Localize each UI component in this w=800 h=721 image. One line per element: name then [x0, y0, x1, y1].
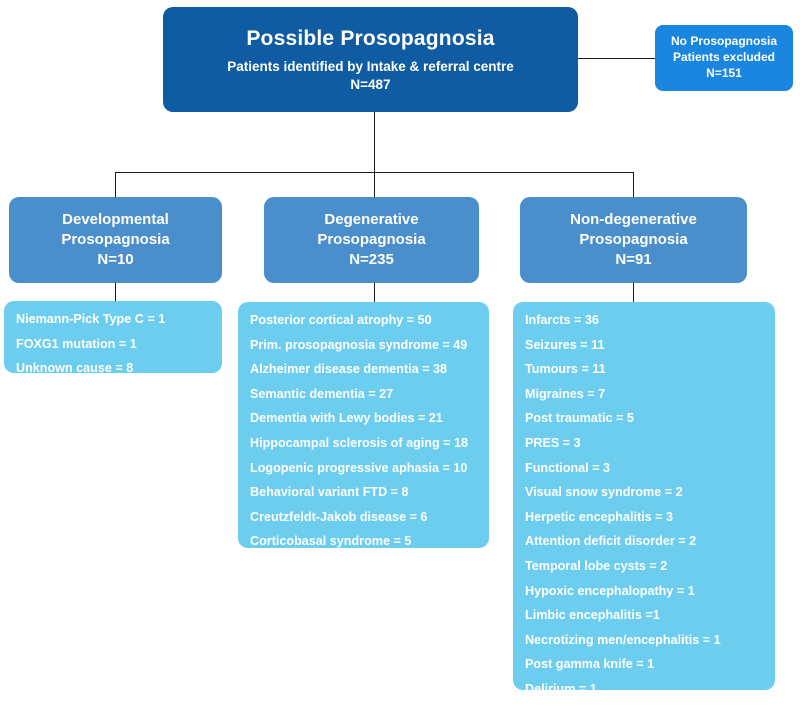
- list-item: Corticobasal syndrome = 5: [250, 535, 479, 548]
- root-title: Possible Prosopagnosia: [246, 26, 494, 52]
- list-item: Migraines = 7: [525, 388, 765, 401]
- list-item: Seizures = 11: [525, 339, 765, 352]
- root-subtitle: Patients identified by Intake & referral…: [227, 58, 514, 76]
- list-item: Infarcts = 36: [525, 314, 765, 327]
- flowchart-canvas: Possible Prosopagnosia Patients identifi…: [0, 0, 800, 703]
- connector-drop-degenerative: [374, 172, 375, 198]
- category-2-name-line-1: Non-degenerative: [570, 210, 697, 230]
- list-item: Uncertain = 1: [525, 708, 765, 721]
- list-item: Post gamma knife = 1: [525, 658, 765, 671]
- category-1-name-line-2: Prosopagnosia: [317, 230, 425, 250]
- category-1-name-line-1: Degenerative: [324, 210, 418, 230]
- category-list-non-degenerative: Infarcts = 36Seizures = 11Tumours = 11Mi…: [513, 302, 775, 690]
- list-item: Tumours = 11: [525, 363, 765, 376]
- connector-developmental-to-list: [115, 283, 116, 303]
- list-item: Alzheimer disease dementia = 38: [250, 363, 479, 376]
- category-list-degenerative: Posterior cortical atrophy = 50Prim. pro…: [238, 302, 489, 548]
- connector-drop-developmental: [115, 172, 116, 198]
- list-item: FOXG1 mutation = 1: [16, 338, 212, 351]
- connector-root-to-excluded: [578, 58, 656, 59]
- list-item: Posterior cortical atrophy = 50: [250, 314, 479, 327]
- list-item: Limbic encephalitis =1: [525, 609, 765, 622]
- list-item: Herpetic encephalitis = 3: [525, 511, 765, 524]
- list-item: Attention deficit disorder = 2: [525, 535, 765, 548]
- category-header-degenerative: Degenerative Prosopagnosia N=235: [264, 197, 479, 283]
- list-item: Hypoxic encephalopathy = 1: [525, 585, 765, 598]
- list-item: Creutzfeldt-Jakob disease = 6: [250, 511, 479, 524]
- category-2-count: N=91: [615, 250, 651, 270]
- connector-drop-nondegenerative: [633, 172, 634, 198]
- category-header-developmental: Developmental Prosopagnosia N=10: [9, 197, 222, 283]
- category-list-developmental: Niemann-Pick Type C = 1FOXG1 mutation = …: [4, 301, 222, 373]
- list-item: Dementia NOS = 3: [250, 560, 479, 573]
- list-item: Logopenic progressive aphasia = 10: [250, 462, 479, 475]
- connector-degenerative-to-list: [374, 283, 375, 303]
- list-item: Semantic dementia = 27: [250, 388, 479, 401]
- root-node-possible-prosopagnosia: Possible Prosopagnosia Patients identifi…: [163, 7, 578, 112]
- list-item: Visual snow syndrome = 2: [525, 486, 765, 499]
- excluded-line-2: Patients excluded: [673, 50, 775, 66]
- excluded-count: N=151: [706, 66, 742, 82]
- category-2-name-line-2: Prosopagnosia: [579, 230, 687, 250]
- category-header-non-degenerative: Non-degenerative Prosopagnosia N=91: [520, 197, 747, 283]
- root-count: N=487: [350, 76, 390, 94]
- excluded-line-1: No Prosopagnosia: [671, 34, 777, 50]
- list-item: Delirium = 1: [525, 683, 765, 696]
- category-1-count: N=235: [349, 250, 394, 270]
- category-0-count: N=10: [97, 250, 133, 270]
- excluded-node-no-prosopagnosia: No Prosopagnosia Patients excluded N=151: [655, 25, 793, 91]
- connector-nondegenerative-to-list: [633, 283, 634, 303]
- list-item: Functional = 3: [525, 462, 765, 475]
- category-0-name-line-1: Developmental: [62, 210, 169, 230]
- list-item: Dementia with Lewy bodies = 21: [250, 412, 479, 425]
- list-item: Necrotizing men/encephalitis = 1: [525, 634, 765, 647]
- list-item: Post traumatic = 5: [525, 412, 765, 425]
- list-item: Niemann-Pick Type C = 1: [16, 313, 212, 326]
- list-item: Behavioral variant FTD = 8: [250, 486, 479, 499]
- list-item: Unknown cause = 8: [16, 362, 212, 375]
- list-item: Prim. prosopagnosia syndrome = 49: [250, 339, 479, 352]
- list-item: Hippocampal sclerosis of aging = 18: [250, 437, 479, 450]
- category-0-name-line-2: Prosopagnosia: [61, 230, 169, 250]
- list-item: Temporal lobe cysts = 2: [525, 560, 765, 573]
- list-item: PRES = 3: [525, 437, 765, 450]
